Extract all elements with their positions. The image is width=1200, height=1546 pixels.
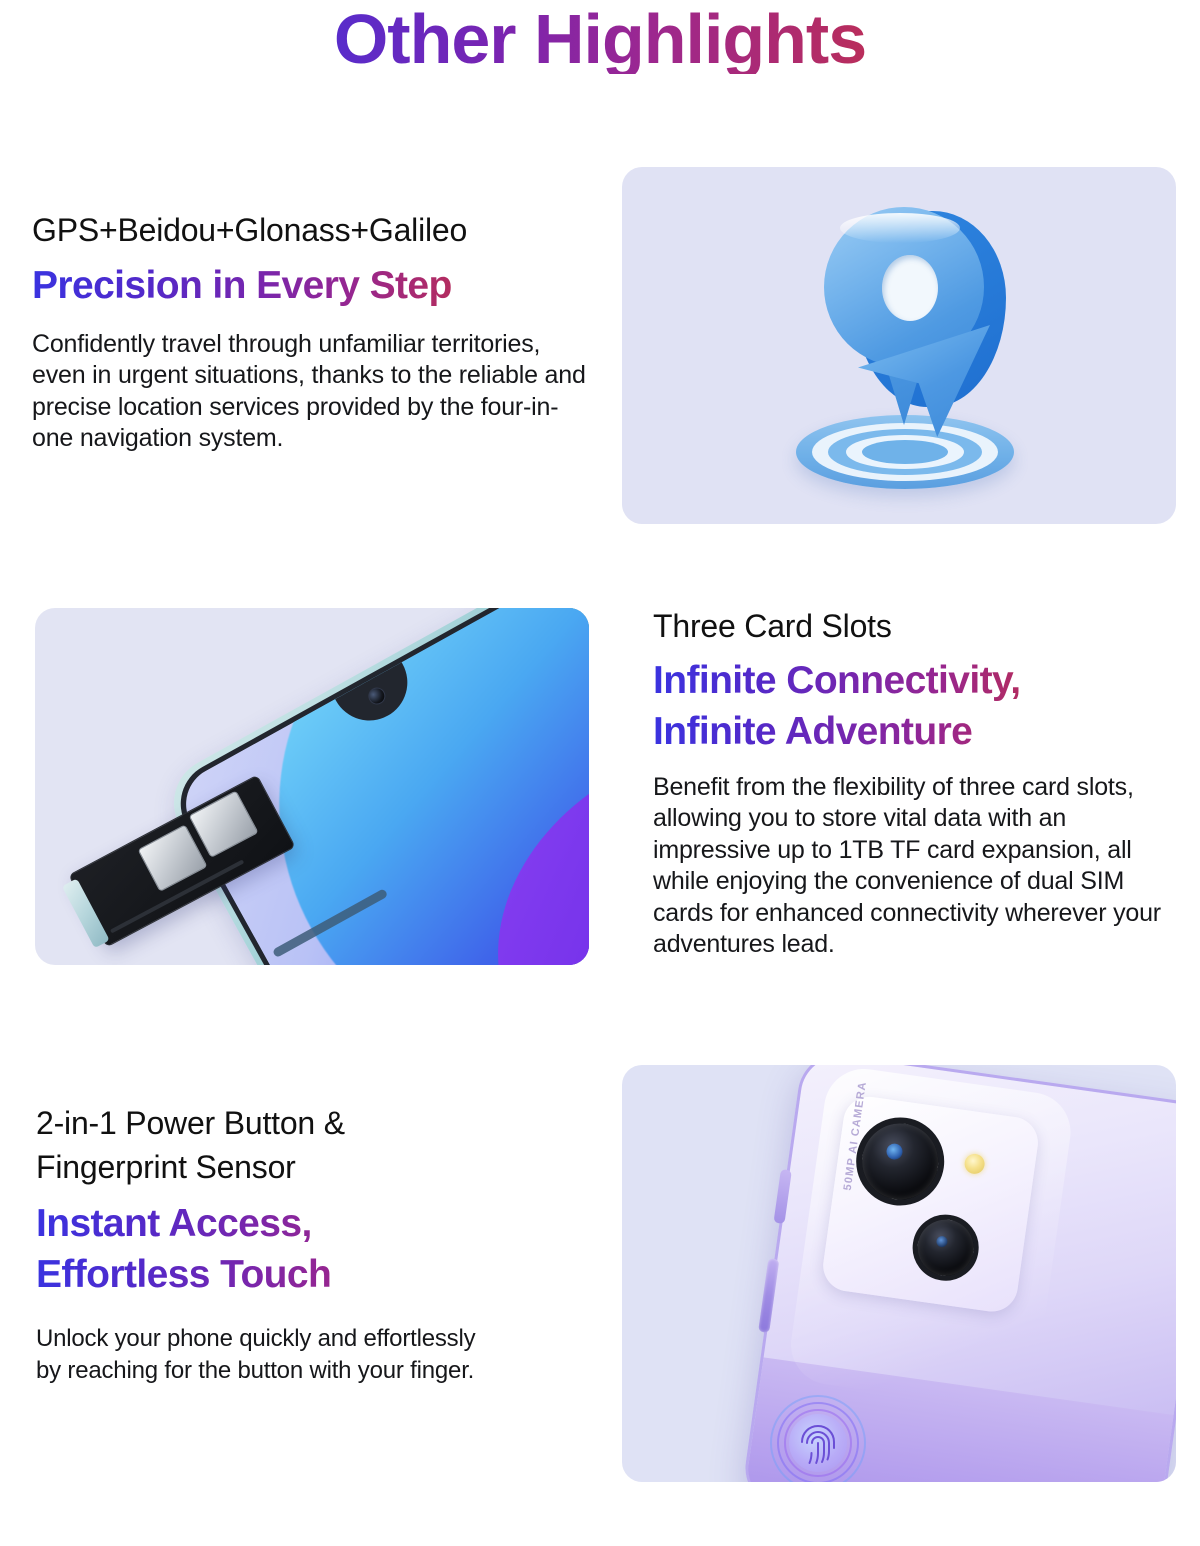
- fingerprint-body: Unlock your phone quickly and effortless…: [36, 1323, 506, 1388]
- marketing-page: Other Highlights GPS+Beidou+Glonass+Gali…: [0, 0, 1200, 1546]
- card-slots-heading-line1: Infinite Connectivity,: [653, 656, 1173, 707]
- fingerprint-sensor-icon: [770, 1395, 866, 1482]
- fingerprint-heading-line2: Effortless Touch: [36, 1250, 576, 1301]
- fingerprint-glyph: [798, 1420, 838, 1466]
- sim-tray-image-card: [35, 608, 589, 965]
- fingerprint-heading-line1: Instant Access,: [36, 1199, 576, 1250]
- main-camera-lens: [850, 1112, 949, 1211]
- gps-body: Confidently travel through unfamiliar te…: [32, 329, 588, 455]
- card-slots-text-block: Three Card Slots Infinite Connectivity, …: [653, 604, 1173, 961]
- phone-front-device: [158, 608, 589, 965]
- fingerprint-eyebrow-line2: Fingerprint Sensor: [36, 1145, 576, 1189]
- fingerprint-image-card: 50MP AI CAMERA: [622, 1065, 1176, 1482]
- gps-pin-illustration: [622, 167, 1176, 524]
- tray-lip: [62, 878, 110, 948]
- card-slots-body: Benefit from the flexibility of three ca…: [653, 772, 1165, 961]
- card-slots-eyebrow: Three Card Slots: [653, 604, 1173, 648]
- gps-heading: Precision in Every Step: [32, 261, 618, 312]
- camera-module: 50MP AI CAMERA: [820, 1093, 1041, 1314]
- fingerprint-eyebrow-line1: 2-in-1 Power Button &: [36, 1101, 576, 1145]
- gps-text-block: GPS+Beidou+Glonass+Galileo Precision in …: [32, 208, 618, 455]
- volume-button: [773, 1169, 791, 1224]
- secondary-camera-lens: [908, 1210, 983, 1285]
- pin-hole: [882, 255, 938, 321]
- gps-image-card: [622, 167, 1176, 524]
- gps-eyebrow: GPS+Beidou+Glonass+Galileo: [32, 208, 618, 252]
- sim-slot-1: [137, 824, 207, 892]
- page-title: Other Highlights: [0, 4, 1200, 74]
- fingerprint-text-block: 2-in-1 Power Button & Fingerprint Sensor…: [36, 1101, 576, 1388]
- power-button: [758, 1258, 779, 1333]
- front-camera-icon: [365, 684, 388, 707]
- led-flash-icon: [963, 1153, 986, 1176]
- card-slots-heading-line2: Infinite Adventure: [653, 707, 1173, 758]
